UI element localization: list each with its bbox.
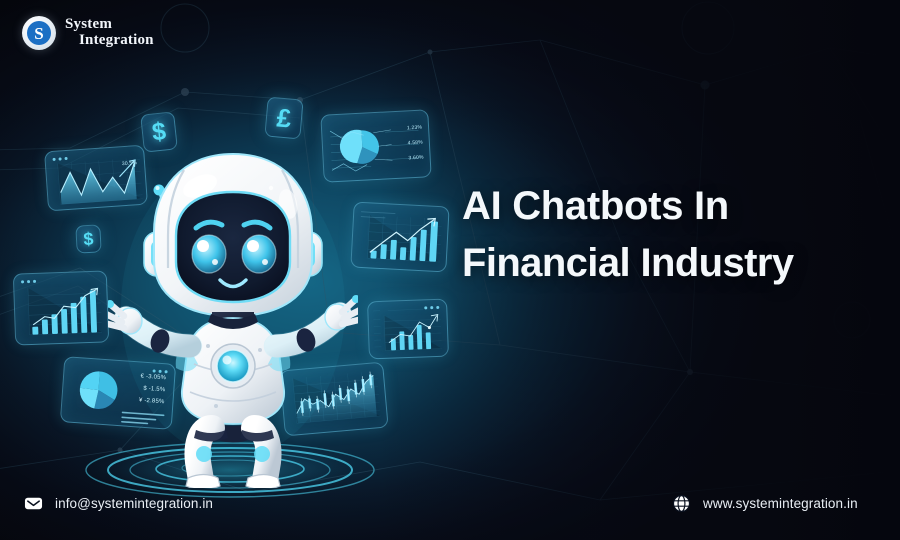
robot-eye-right <box>242 235 276 273</box>
bar-series <box>14 271 108 345</box>
robot-eye-left <box>192 235 226 273</box>
mail-icon <box>24 494 43 513</box>
logo-mark-icon: S <box>22 16 56 50</box>
robot-head <box>154 154 312 316</box>
globe-icon <box>672 494 691 513</box>
brand-name: System Integration <box>65 17 154 49</box>
page-title: AI Chatbots In Financial Industry <box>462 178 874 292</box>
contact-website[interactable]: www.systemintegration.in <box>672 494 858 513</box>
email-text: info@systemintegration.in <box>55 496 213 511</box>
logo-letter: S <box>27 21 51 45</box>
pie-legend-2: 3.60% <box>408 155 423 162</box>
dashboard-card <box>367 299 449 360</box>
mixed-series <box>368 300 448 359</box>
bar-trend-card <box>350 202 449 273</box>
pie-legend-1: 4.58% <box>408 140 423 147</box>
poster-canvas: S System Integration 30.5% <box>0 0 900 540</box>
brand-logo[interactable]: S System Integration <box>22 16 154 50</box>
website-text: www.systemintegration.in <box>703 496 858 511</box>
bar-series <box>351 203 448 272</box>
brand-name-line1: System <box>65 17 154 33</box>
ai-robot-mascot <box>108 128 358 488</box>
headline-line2: Financial Industry <box>462 235 874 292</box>
bar-chart-card <box>13 270 109 345</box>
dollar-badge-small: $ <box>75 224 101 253</box>
pie-legend-0: 1.23% <box>407 125 422 132</box>
headline-line1: AI Chatbots In <box>462 184 729 228</box>
brand-name-line2: Integration <box>79 33 154 49</box>
contact-email[interactable]: info@systemintegration.in <box>24 494 213 513</box>
